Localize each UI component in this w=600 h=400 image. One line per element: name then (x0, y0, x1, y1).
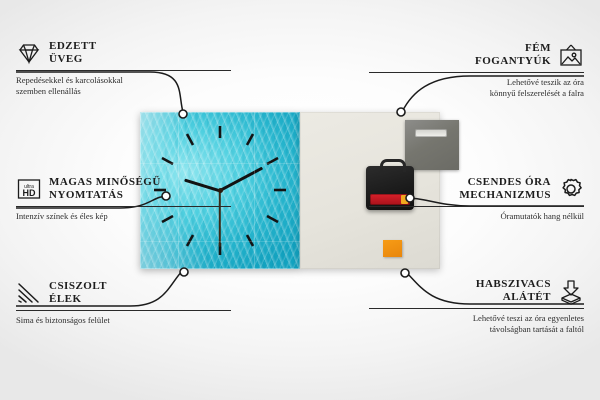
callout-title: CSENDES ÓRA MECHANIZMUS (459, 176, 551, 202)
callout-divider (16, 206, 231, 207)
callout-title-line1: MAGAS MINŐSÉGŰ (49, 176, 161, 189)
callout-desc-line1: Sima és biztonságos felület (16, 315, 231, 326)
callout-description: Lehetővé teszik az óra könnyű felszerelé… (369, 77, 584, 99)
gear-icon (558, 177, 584, 201)
callout-desc-line1: Lehetővé teszik az óra (369, 77, 584, 88)
callout-header: ultra HD MAGAS MINŐSÉGŰ NYOMTATÁS (16, 176, 231, 202)
wire-endpoint-polished-edges (180, 268, 188, 276)
callout-title: MAGAS MINŐSÉGŰ NYOMTATÁS (49, 176, 161, 202)
callout-polished-edges[interactable]: CSISZOLT ÉLEK Sima és biztonságos felüle… (16, 280, 231, 326)
callout-desc-line1: Óramutatók hang nélkül (369, 211, 584, 222)
polished-edges-icon (16, 281, 42, 305)
press-down-pad-icon (558, 279, 584, 303)
callout-title-line2: NYOMTATÁS (49, 189, 161, 202)
callout-desc-line1: Lehetővé teszi az óra egyenletes (369, 313, 584, 324)
metal-hanger-plate (405, 120, 459, 170)
callout-divider (369, 206, 584, 207)
callout-title-line1: HABSZIVACS (476, 278, 551, 291)
mechanism-hanging-loop (380, 159, 406, 172)
callout-divider (369, 72, 584, 73)
callout-header: FÉM FOGANTYÚK (369, 42, 584, 68)
callout-desc-line2: könnyű felszerelését a falra (369, 88, 584, 99)
callout-title: CSISZOLT ÉLEK (49, 280, 107, 306)
callout-title-line2: MECHANIZMUS (459, 189, 551, 202)
callout-title: EDZETT ÜVEG (49, 40, 97, 66)
callout-title-line1: CSENDES ÓRA (459, 176, 551, 189)
callout-desc-line2: szemben ellenállás (16, 86, 231, 97)
callout-divider (369, 308, 584, 309)
callout-title-line2: ÜVEG (49, 53, 97, 66)
callout-title: HABSZIVACS ALÁTÉT (476, 278, 551, 304)
callout-metal-handles[interactable]: FÉM FOGANTYÚK Lehetővé teszik az óra kön… (369, 42, 584, 99)
callout-description: Intenzív színek és éles kép (16, 211, 231, 222)
callout-header: CSISZOLT ÉLEK (16, 280, 231, 306)
ultra-hd-icon: ultra HD (16, 177, 42, 201)
callout-description: Repedésekkel és karcolásokkal szemben el… (16, 75, 231, 97)
callout-title-line1: CSISZOLT (49, 280, 107, 293)
ultra-hd-large-label: HD (23, 188, 36, 198)
infographic-canvas: EDZETT ÜVEG Repedésekkel és karcolásokka… (0, 0, 600, 400)
wire-endpoint-foam-pad (401, 269, 409, 277)
callout-divider (16, 310, 231, 311)
callout-title-line1: FÉM (475, 42, 551, 55)
callout-description: Lehetővé teszi az óra egyenletes távolsá… (369, 313, 584, 335)
callout-desc-line1: Repedésekkel és karcolásokkal (16, 75, 231, 86)
callout-description: Sima és biztonságos felület (16, 315, 231, 326)
foam-spacer-pad (383, 240, 402, 257)
callout-silent-mechanism[interactable]: CSENDES ÓRA MECHANIZMUS Óramutatók hang … (369, 176, 584, 222)
callout-high-quality-print[interactable]: ultra HD MAGAS MINŐSÉGŰ NYOMTATÁS Intenz… (16, 176, 231, 222)
callout-header: HABSZIVACS ALÁTÉT (369, 278, 584, 304)
callout-desc-line1: Intenzív színek és éles kép (16, 211, 231, 222)
callout-foam-pad[interactable]: HABSZIVACS ALÁTÉT Lehetővé teszi az óra … (369, 278, 584, 335)
callout-desc-line2: távolságban tartását a faltól (369, 324, 584, 335)
callout-title-line2: ÉLEK (49, 293, 107, 306)
callout-description: Óramutatók hang nélkül (369, 211, 584, 222)
callout-title-line2: FOGANTYÚK (475, 55, 551, 68)
callout-title-line2: ALÁTÉT (476, 291, 551, 304)
callout-header: CSENDES ÓRA MECHANIZMUS (369, 176, 584, 202)
callout-tempered-glass[interactable]: EDZETT ÜVEG Repedésekkel és karcolásokka… (16, 40, 231, 97)
callout-header: EDZETT ÜVEG (16, 40, 231, 66)
diamond-icon (16, 41, 42, 65)
callout-divider (16, 70, 231, 71)
callout-title-line1: EDZETT (49, 40, 97, 53)
wall-hanger-icon (558, 43, 584, 67)
hanger-slot (415, 129, 447, 137)
callout-title: FÉM FOGANTYÚK (475, 42, 551, 68)
